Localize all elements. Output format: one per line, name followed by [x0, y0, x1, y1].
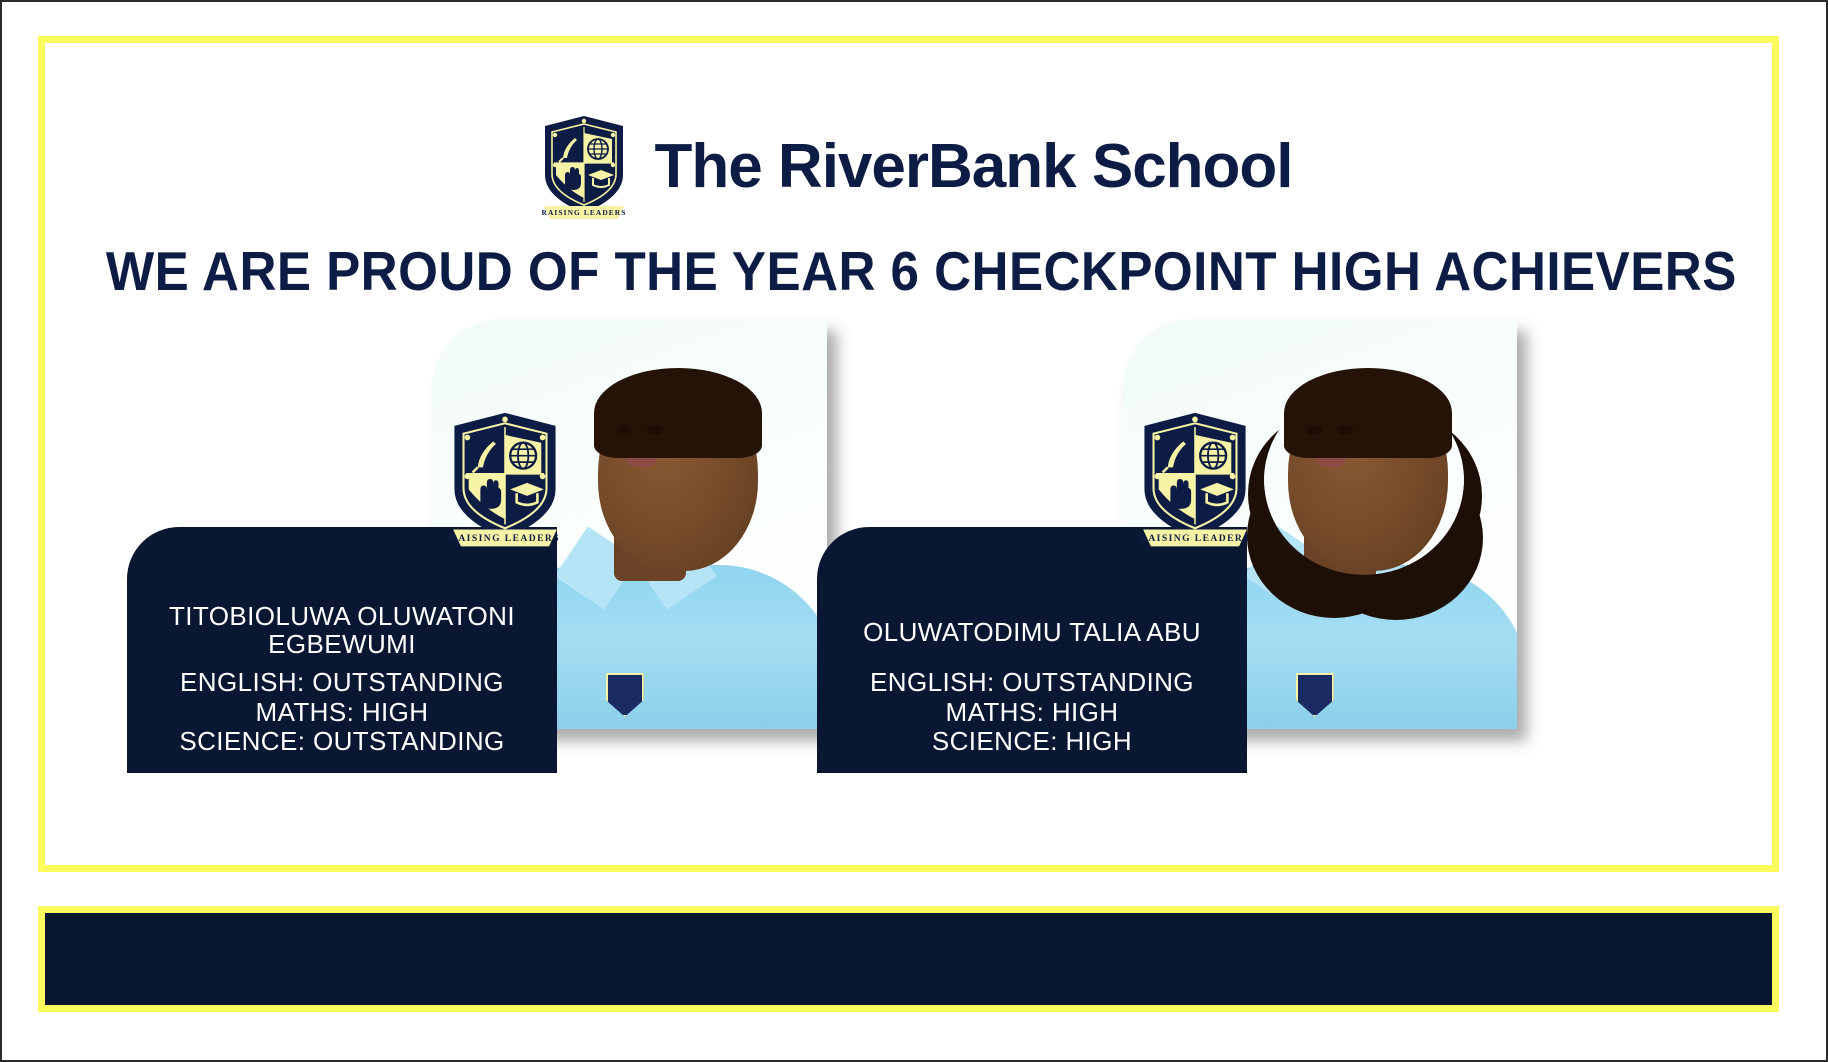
student-info-card: RAISING LEADERS OLUWATODIMU TALIA ABU EN…: [817, 527, 1247, 773]
svg-text:RAISING LEADERS: RAISING LEADERS: [1140, 533, 1250, 544]
footer-navy-bar: [45, 913, 1772, 1005]
student-card: RAISING LEADERS TITOBIOLUWA OLUWATONI EG…: [127, 319, 847, 779]
eye-left: [616, 426, 632, 435]
headline-text: WE ARE PROUD OF THE YEAR 6 CHECKPOINT HI…: [106, 239, 1725, 303]
shield-crest-icon: RAISING LEADERS: [1131, 409, 1259, 549]
eye-left: [1306, 426, 1322, 435]
poster-root: RAISING LEADERS The RiverBank School WE …: [0, 0, 1828, 1062]
shield-crest-icon: RAISING LEADERS: [538, 113, 630, 221]
yellow-frame-border: RAISING LEADERS The RiverBank School WE …: [38, 36, 1779, 872]
motto-text: RAISING LEADERS: [542, 208, 627, 217]
mouth: [1316, 458, 1346, 467]
svg-text:RAISING LEADERS: RAISING LEADERS: [450, 533, 560, 544]
braids: [1264, 385, 1464, 575]
brand-header: RAISING LEADERS The RiverBank School: [45, 113, 1786, 221]
student-name: OLUWATODIMU TALIA ABU: [863, 618, 1201, 646]
student-card: RAISING LEADERS OLUWATODIMU TALIA ABU EN…: [817, 319, 1537, 779]
shield-crest-icon: RAISING LEADERS: [441, 409, 569, 549]
result-science: SCIENCE: OUTSTANDING: [179, 727, 504, 757]
school-name: The RiverBank School: [654, 136, 1292, 198]
eye-right: [647, 426, 663, 435]
hair: [594, 368, 762, 458]
result-english: ENGLISH: OUTSTANDING: [870, 668, 1194, 698]
mouth: [626, 458, 656, 467]
result-maths: MATHS: HIGH: [256, 698, 429, 728]
student-name: TITOBIOLUWA OLUWATONI EGBEWUMI: [169, 602, 515, 658]
result-maths: MATHS: HIGH: [946, 698, 1119, 728]
result-science: SCIENCE: HIGH: [932, 727, 1132, 757]
eye-right: [1337, 426, 1353, 435]
student-info-card: RAISING LEADERS TITOBIOLUWA OLUWATONI EG…: [127, 527, 557, 773]
result-english: ENGLISH: OUTSTANDING: [180, 668, 504, 698]
students-row: RAISING LEADERS TITOBIOLUWA OLUWATONI EG…: [45, 319, 1786, 779]
